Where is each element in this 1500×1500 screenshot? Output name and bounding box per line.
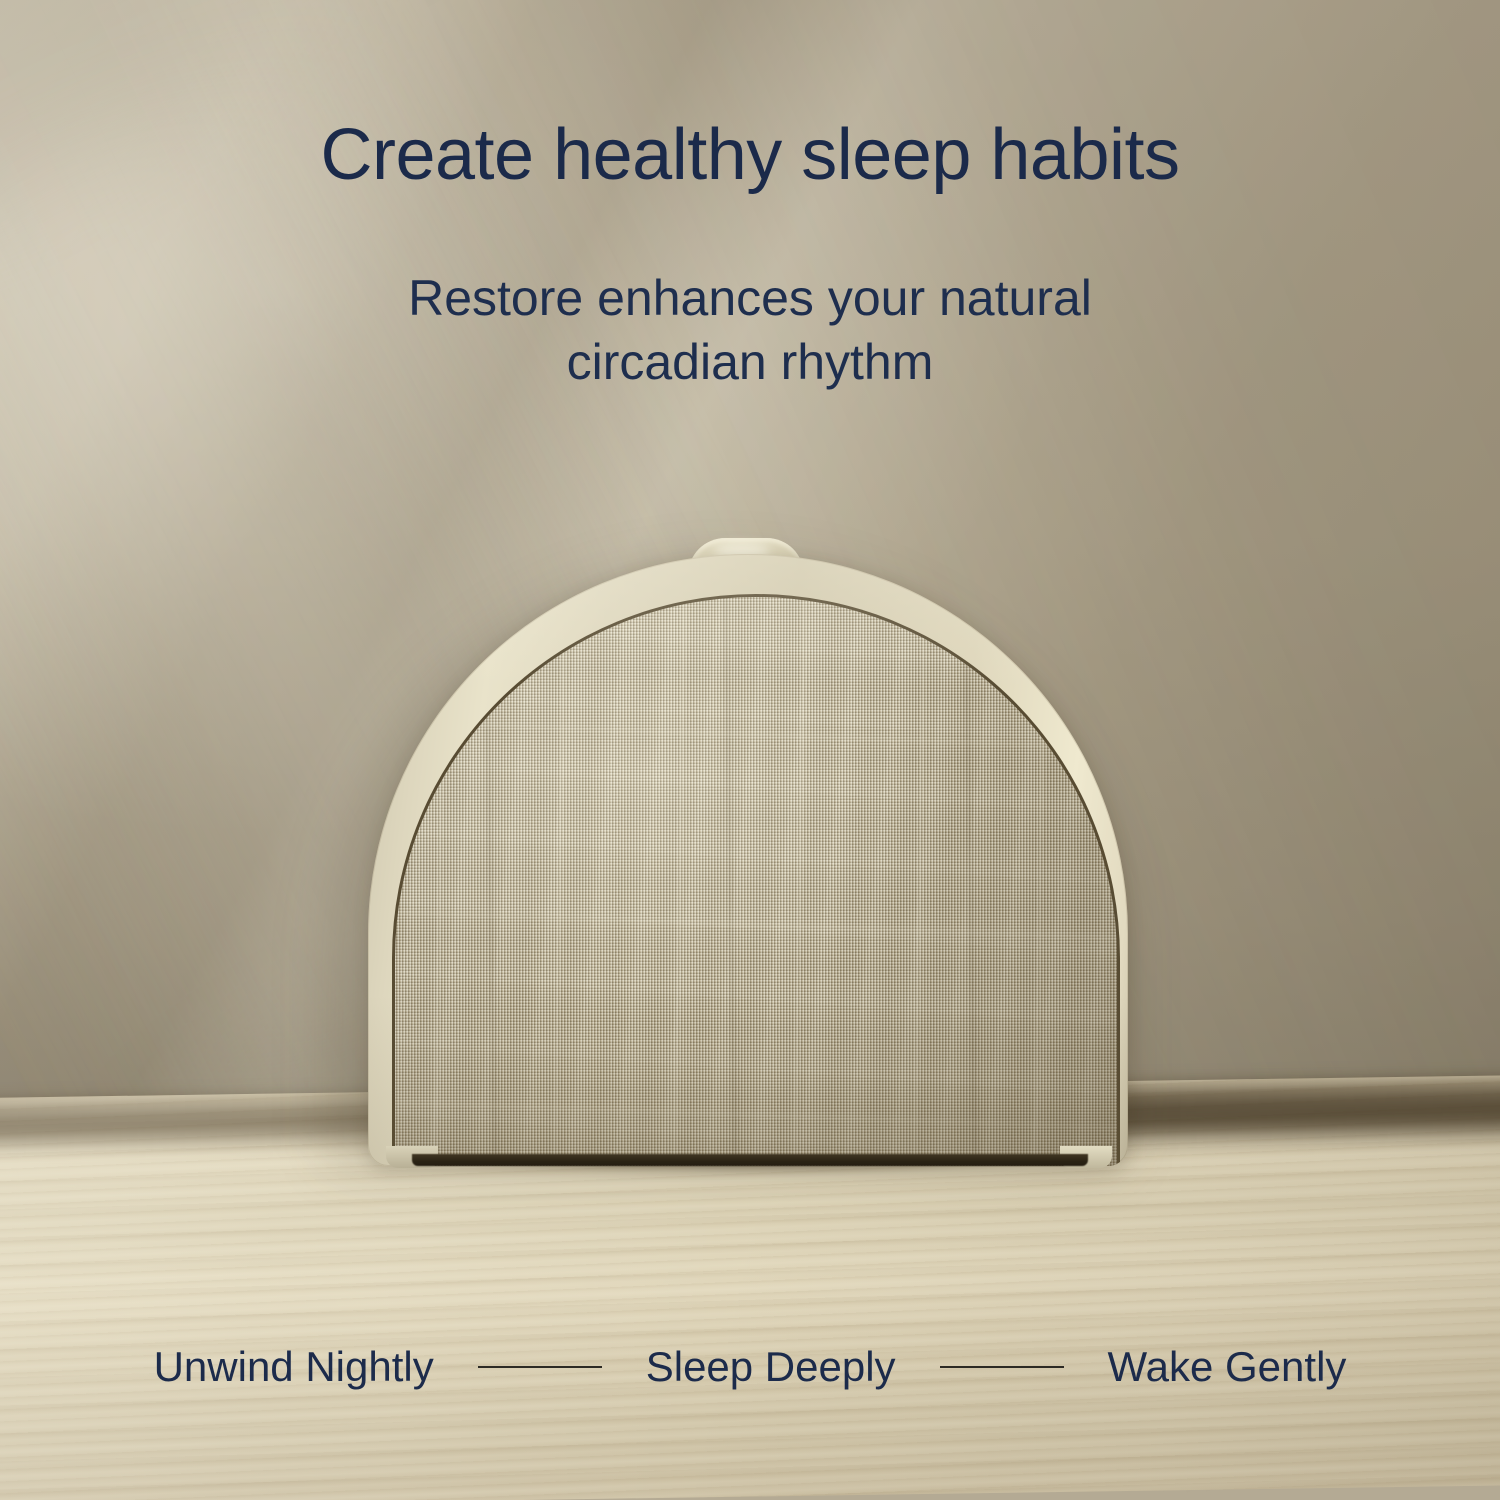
step-divider-2 [940,1366,1064,1368]
step-divider-1 [478,1366,602,1368]
fabric-shading [395,597,1117,1166]
step-label-unwind: Unwind Nightly [154,1343,434,1391]
feature-steps: Unwind Nightly Sleep Deeply Wake Gently [0,1312,1500,1422]
page-title: Create healthy sleep habits [0,118,1500,194]
step-label-wake: Wake Gently [1108,1343,1347,1391]
device-base-shadow [412,1154,1088,1166]
product-device [360,530,1135,1180]
product-hero-image: Create healthy sleep habits Restore enha… [0,0,1500,1500]
fabric-slub-texture [395,597,1117,1166]
device-fabric-grille [395,597,1117,1166]
subtitle-line-2: circadian rhythm [250,330,1250,394]
page-subtitle: Restore enhances your natural circadian … [250,266,1250,394]
subtitle-line-1: Restore enhances your natural [250,266,1250,330]
step-label-sleep: Sleep Deeply [646,1343,896,1391]
